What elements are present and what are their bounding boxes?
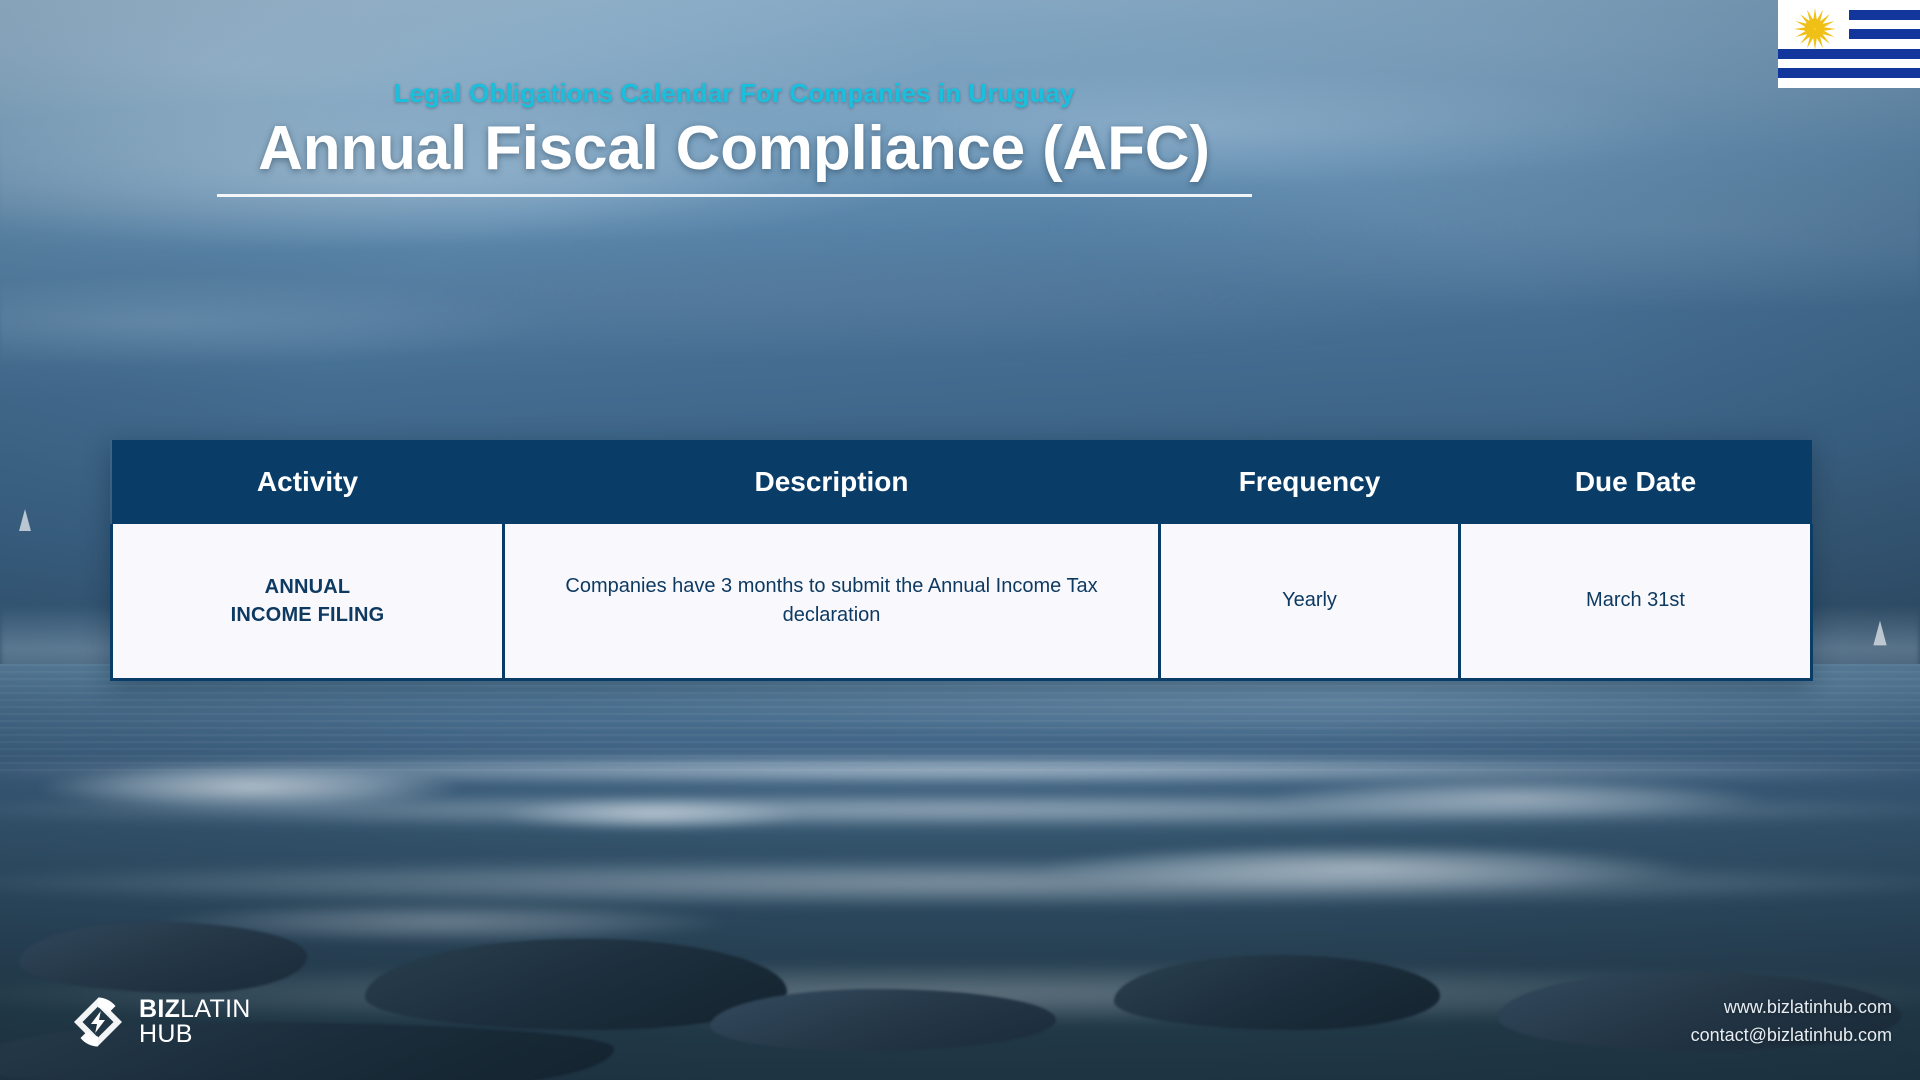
brand-line-2: HUB xyxy=(139,1022,251,1048)
uruguay-flag-icon xyxy=(1778,0,1920,88)
flag-stripe-3 xyxy=(1778,49,1920,59)
table-header-row: Activity Description Frequency Due Date xyxy=(112,440,1812,524)
brand-line-1: BIZLATIN xyxy=(139,997,251,1023)
bizlatinhub-logo-icon xyxy=(72,996,124,1048)
cell-activity: ANNUAL INCOME FILING xyxy=(112,524,504,679)
activity-line-2: INCOME FILING xyxy=(231,604,385,626)
page-title: Annual Fiscal Compliance (AFC) xyxy=(0,116,1468,183)
flag-stripe-1 xyxy=(1849,10,1920,20)
table-row: ANNUAL INCOME FILING Companies have 3 mo… xyxy=(112,524,1812,679)
page-subtitle: Legal Obligations Calendar For Companies… xyxy=(0,78,1468,109)
website-url[interactable]: www.bizlatinhub.com xyxy=(1691,994,1892,1022)
brand-wordmark: BIZLATIN HUB xyxy=(139,997,251,1048)
brand-biz: BIZ xyxy=(139,995,180,1023)
column-header-due-date: Due Date xyxy=(1460,440,1812,524)
brand-logo: BIZLATIN HUB xyxy=(72,996,251,1048)
contact-info: www.bizlatinhub.com contact@bizlatinhub.… xyxy=(1691,994,1892,1050)
column-header-frequency: Frequency xyxy=(1160,440,1460,524)
table-body: ANNUAL INCOME FILING Companies have 3 mo… xyxy=(112,524,1812,679)
cell-frequency: Yearly xyxy=(1160,524,1460,679)
column-header-description: Description xyxy=(504,440,1160,524)
compliance-table: Activity Description Frequency Due Date … xyxy=(110,440,1813,681)
table-head: Activity Description Frequency Due Date xyxy=(112,440,1812,524)
compliance-table-wrapper: Activity Description Frequency Due Date … xyxy=(110,440,1810,681)
activity-line-1: ANNUAL xyxy=(265,576,351,598)
cell-description: Companies have 3 months to submit the An… xyxy=(504,524,1160,679)
sun-of-may-icon xyxy=(1794,8,1836,50)
cell-due-date: March 31st xyxy=(1460,524,1812,679)
flag-stripe-2 xyxy=(1849,29,1920,39)
header-block: Legal Obligations Calendar For Companies… xyxy=(0,78,1468,197)
column-header-activity: Activity xyxy=(112,440,504,524)
brand-latin: LATIN xyxy=(180,995,251,1023)
title-underline xyxy=(217,194,1252,197)
contact-email[interactable]: contact@bizlatinhub.com xyxy=(1691,1022,1892,1050)
flag-stripe-4 xyxy=(1778,68,1920,78)
